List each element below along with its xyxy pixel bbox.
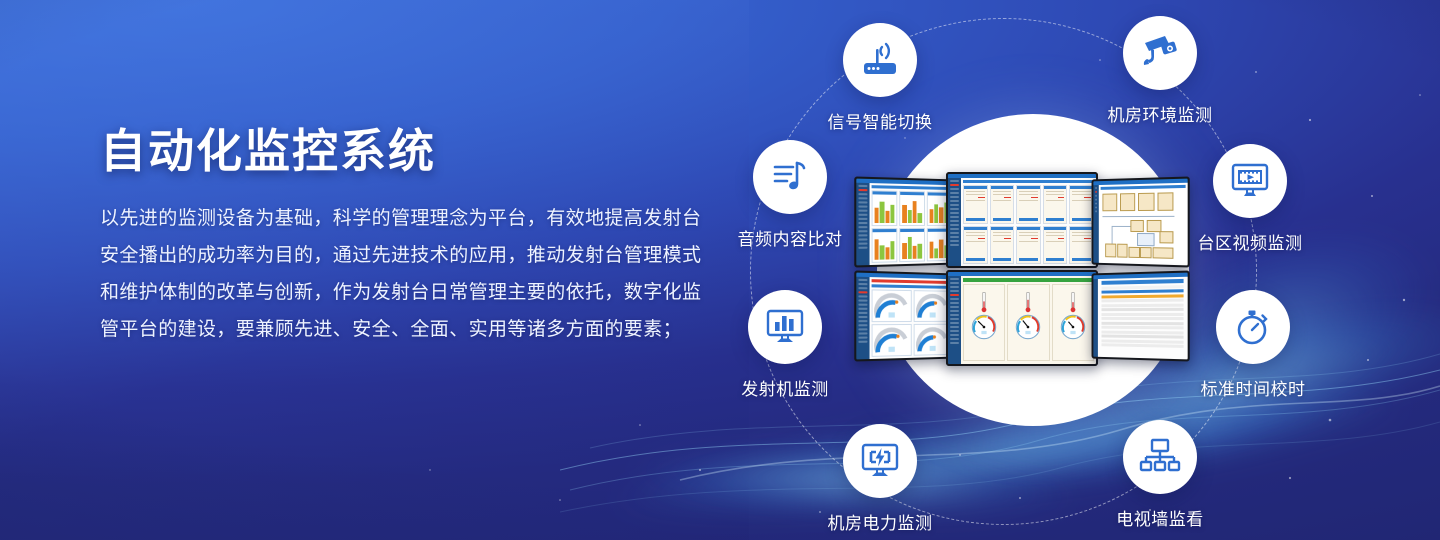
feature-label: 音频内容比对 xyxy=(738,225,843,250)
monitor-bottom-center[interactable] xyxy=(946,270,1098,366)
page-title: 自动化监控系统 xyxy=(100,128,710,174)
feature-node-tv-wall[interactable]: 电视墙监看 xyxy=(1075,420,1245,530)
feature-node-video[interactable]: 台区视频监测 xyxy=(1165,144,1335,254)
feature-node-env[interactable]: 机房环境监测 xyxy=(1075,16,1245,126)
feature-node-power[interactable]: 机房电力监测 xyxy=(795,424,965,534)
feature-label: 标准时间校时 xyxy=(1201,375,1306,400)
feature-node-time-sync[interactable]: 标准时间校时 xyxy=(1168,290,1338,400)
feature-label: 信号智能切换 xyxy=(828,108,933,133)
feature-label: 台区视频监测 xyxy=(1198,229,1303,254)
router-wifi-icon xyxy=(843,23,917,97)
feature-node-transmitter[interactable]: 发射机监测 xyxy=(700,290,870,400)
feature-label: 电视墙监看 xyxy=(1116,505,1204,530)
cctv-camera-icon xyxy=(1123,16,1197,90)
monitor-wall xyxy=(852,172,1192,362)
hero-banner: 自动化监控系统 以先进的监测设备为基础，科学的管理理念为平台，有效地提高发射台安… xyxy=(0,0,1440,540)
screen-device-card-grid xyxy=(948,174,1096,266)
screen-arc-gauge-panels xyxy=(856,273,952,360)
audio-note-icon xyxy=(753,140,827,214)
feature-node-audio[interactable]: 音频内容比对 xyxy=(705,140,875,250)
feature-node-signal[interactable]: 信号智能切换 xyxy=(795,23,965,133)
stopwatch-icon xyxy=(1216,290,1290,364)
hero-description: 以先进的监测设备为基础，科学的管理理念为平台，有效地提高发射台安全播出的成功率为… xyxy=(100,200,710,348)
feature-label: 机房环境监测 xyxy=(1108,101,1213,126)
feature-label: 发射机监测 xyxy=(741,375,829,400)
screen-dial-thermometer-panels xyxy=(948,272,1096,364)
monitor-video-icon xyxy=(1213,144,1287,218)
monitor-battery-bolt-icon xyxy=(843,424,917,498)
feature-label: 机房电力监测 xyxy=(828,509,933,534)
monitor-top-center[interactable] xyxy=(946,172,1098,268)
tv-wall-hierarchy-icon xyxy=(1123,420,1197,494)
hero-copy: 自动化监控系统 以先进的监测设备为基础，科学的管理理念为平台，有效地提高发射台安… xyxy=(100,128,710,348)
monitor-barchart-icon xyxy=(748,290,822,364)
